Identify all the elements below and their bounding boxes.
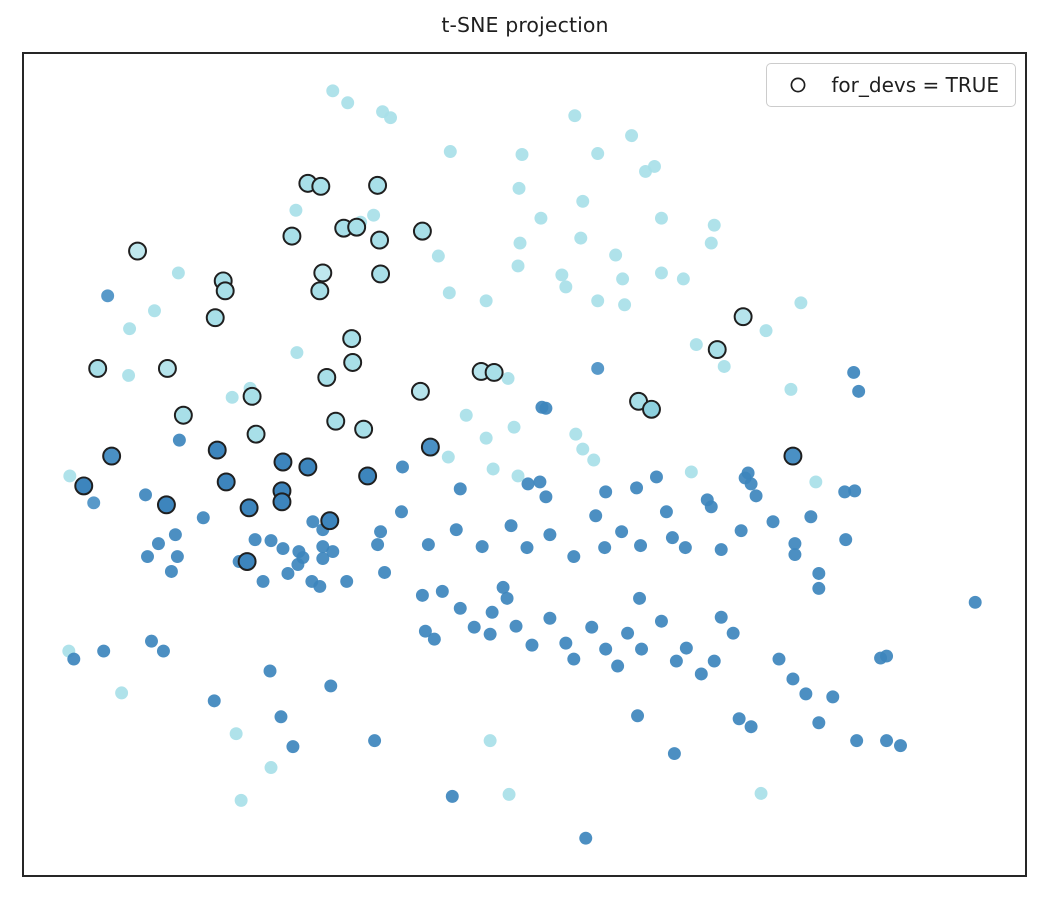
scatter-point: [454, 602, 467, 615]
scatter-point: [773, 653, 786, 666]
scatter-point: [559, 280, 572, 293]
scatter-point: [327, 413, 344, 430]
scatter-point: [340, 575, 353, 588]
scatter-point: [655, 266, 668, 279]
scatter-point: [650, 470, 663, 483]
scatter-point: [165, 565, 178, 578]
scatter-point: [633, 592, 646, 605]
scatter-point: [767, 515, 780, 528]
scatter-point: [123, 322, 136, 335]
scatter-point: [208, 694, 221, 707]
scatter-point: [569, 428, 582, 441]
scatter-point: [416, 589, 429, 602]
scatter-point: [745, 477, 758, 490]
scatter-point: [634, 539, 647, 552]
scatter-point: [755, 787, 768, 800]
scatter-point: [643, 401, 660, 418]
scatter-point: [395, 505, 408, 518]
scatter-point: [226, 391, 239, 404]
scatter-point: [525, 639, 538, 652]
scatter-point: [87, 496, 100, 509]
scatter-point: [274, 493, 291, 510]
scatter-point: [197, 511, 210, 524]
scatter-point: [591, 294, 604, 307]
scatter-point: [543, 528, 556, 541]
scatter-point: [484, 628, 497, 641]
scatter-point: [396, 461, 409, 474]
scatter-point: [826, 690, 839, 703]
scatter-point: [695, 668, 708, 681]
scatter-point: [274, 454, 291, 471]
scatter-point: [173, 434, 186, 447]
legend[interactable]: for_devs = TRUE: [766, 63, 1016, 107]
scatter-point: [257, 575, 270, 588]
scatter-point: [369, 177, 386, 194]
scatter-point: [543, 612, 556, 625]
scatter-point: [326, 545, 339, 558]
scatter-point: [122, 369, 135, 382]
scatter-point: [450, 523, 463, 536]
scatter-point: [378, 566, 391, 579]
scatter-point: [476, 540, 489, 553]
scatter-point: [503, 788, 516, 801]
scatter-point: [615, 525, 628, 538]
scatter-point: [576, 443, 589, 456]
scatter-point: [850, 734, 863, 747]
scatter-point: [436, 585, 449, 598]
scatter-point: [733, 712, 746, 725]
scatter-point: [265, 761, 278, 774]
scatter-point: [894, 739, 907, 752]
scatter-point: [502, 372, 515, 385]
scatter-point: [718, 360, 731, 373]
scatter-point: [599, 643, 612, 656]
scatter-point: [89, 360, 106, 377]
scatter-point: [574, 232, 587, 245]
scatter-point: [735, 524, 748, 537]
scatter-point: [616, 272, 629, 285]
scatter-point: [735, 308, 752, 325]
scatter-point: [533, 475, 546, 488]
scatter-point: [514, 237, 527, 250]
scatter-point: [311, 282, 328, 299]
scatter-point: [371, 232, 388, 249]
scatter-point: [318, 369, 335, 386]
scatter-point: [848, 484, 861, 497]
scatter-point: [585, 621, 598, 634]
scatter-point: [609, 249, 622, 262]
scatter-point: [283, 228, 300, 245]
page-title: t-SNE projection: [0, 13, 1050, 37]
scatter-point: [355, 421, 372, 438]
scatter-point: [655, 615, 668, 628]
scatter-point: [750, 489, 763, 502]
scatter-point: [432, 250, 445, 263]
scatter-point: [454, 482, 467, 495]
scatter-point: [101, 289, 114, 302]
scatter-point: [442, 451, 455, 464]
scatter-point: [611, 660, 624, 673]
scatter-point: [852, 385, 865, 398]
scatter-point: [794, 296, 807, 309]
scatter-point: [788, 548, 801, 561]
scatter-point: [715, 543, 728, 556]
scatter-point: [159, 360, 176, 377]
scatter-point: [591, 362, 604, 375]
legend-label: for_devs = TRUE: [831, 73, 999, 97]
scatter-point: [274, 710, 287, 723]
scatter-point: [655, 212, 668, 225]
scatter-point: [677, 272, 690, 285]
scatter-point: [290, 346, 303, 359]
scatter-point: [512, 259, 525, 272]
scatter-point: [516, 148, 529, 161]
scatter-point: [591, 147, 604, 160]
scatter-point: [171, 550, 184, 563]
scatter-point: [784, 383, 797, 396]
scatter-point: [618, 298, 631, 311]
scatter-point: [625, 129, 638, 142]
scatter-point: [265, 534, 278, 547]
scatter-point: [630, 481, 643, 494]
scatter-point: [708, 219, 721, 232]
scatter-point: [599, 485, 612, 498]
scatter-point: [705, 237, 718, 250]
scatter-point: [727, 627, 740, 640]
scatter-point: [690, 338, 703, 351]
scatter-point: [812, 716, 825, 729]
scatter-point: [145, 635, 158, 648]
scatter-point: [289, 204, 302, 217]
scatter-point: [809, 475, 822, 488]
scatter-point: [103, 448, 120, 465]
scatter-point: [880, 650, 893, 663]
scatter-point: [555, 268, 568, 281]
scatter-point: [460, 409, 473, 422]
scatter-point: [217, 282, 234, 299]
scatter-point: [296, 551, 309, 564]
scatter-point: [631, 709, 644, 722]
scatter-point: [522, 477, 535, 490]
scatter-point: [249, 533, 262, 546]
scatter-point: [299, 459, 316, 476]
scatter-point: [276, 542, 289, 555]
scatter-point: [839, 533, 852, 546]
scatter-point: [129, 243, 146, 260]
scatter-point: [742, 466, 755, 479]
scatter-point: [680, 642, 693, 655]
scatter-point: [539, 490, 552, 503]
scatter-point: [371, 538, 384, 551]
scatter-series: [62, 84, 981, 844]
scatter-point: [343, 330, 360, 347]
scatter-point: [685, 465, 698, 478]
scatter-point: [468, 621, 481, 634]
scatter-point: [207, 309, 224, 326]
plot-area[interactable]: for_devs = TRUE: [22, 52, 1027, 877]
scatter-point: [505, 519, 518, 532]
scatter-point: [705, 500, 718, 513]
scatter-point: [660, 505, 673, 518]
scatter-point: [804, 510, 817, 523]
scatter-point: [141, 550, 154, 563]
scatter-point: [567, 653, 580, 666]
scatter-point: [414, 223, 431, 240]
scatter-point: [341, 96, 354, 109]
scatter-point: [384, 111, 397, 124]
scatter-point: [368, 734, 381, 747]
scatter-point: [172, 266, 185, 279]
scatter-point: [422, 538, 435, 551]
scatter-point: [97, 645, 110, 658]
scatter-point: [708, 655, 721, 668]
scatter-point: [745, 720, 758, 733]
scatter-point: [508, 421, 521, 434]
scatter-point: [446, 790, 459, 803]
scatter-point: [264, 665, 277, 678]
scatter-point: [486, 364, 503, 381]
scatter-point: [513, 182, 526, 195]
scatter-point: [209, 442, 226, 459]
scatter-point: [487, 463, 500, 476]
scatter-point: [670, 655, 683, 668]
scatter-point: [372, 265, 389, 282]
scatter-point: [412, 383, 429, 400]
scatter-point: [480, 294, 493, 307]
scatter-point: [235, 794, 248, 807]
scatter-point: [218, 473, 235, 490]
scatter-point: [344, 354, 361, 371]
scatter-point: [598, 541, 611, 554]
scatter-point: [579, 832, 592, 845]
scatter-point: [559, 637, 572, 650]
scatter-point: [535, 401, 548, 414]
scatter-point: [324, 679, 337, 692]
scatter-point: [313, 580, 326, 593]
scatter-point: [486, 606, 499, 619]
scatter-point: [367, 209, 380, 222]
scatter-point: [668, 747, 681, 760]
scatter-point: [679, 541, 692, 554]
scatter-point: [67, 653, 80, 666]
scatter-point: [799, 687, 812, 700]
scatter-point: [241, 499, 258, 516]
scatter-point: [312, 178, 329, 195]
scatter-point: [443, 286, 456, 299]
scatter-point: [648, 160, 661, 173]
scatter-point: [428, 633, 441, 646]
scatter-point: [148, 304, 161, 317]
scatter-point: [444, 145, 457, 158]
scatter-point: [760, 324, 773, 337]
scatter-point: [239, 553, 256, 570]
scatter-point: [484, 734, 497, 747]
scatter-point: [374, 525, 387, 538]
scatter-point: [568, 109, 581, 122]
scatter-point: [880, 734, 893, 747]
scatter-point: [244, 388, 261, 405]
scatter-point: [139, 488, 152, 501]
scatter-point: [587, 454, 600, 467]
scatter-point: [715, 611, 728, 624]
scatter-point: [969, 596, 982, 609]
scatter-point: [786, 672, 799, 685]
legend-circle-open-icon: [781, 76, 815, 94]
scatter-point: [480, 432, 493, 445]
scatter-point: [521, 541, 534, 554]
scatter-point: [812, 582, 825, 595]
scatter-point: [314, 264, 331, 281]
scatter-point: [784, 448, 801, 465]
scatter-point: [359, 467, 376, 484]
scatter-point: [230, 727, 243, 740]
scatter-point: [152, 537, 165, 550]
scatter-point: [567, 550, 580, 563]
scatter-point: [510, 620, 523, 633]
scatter-point: [635, 643, 648, 656]
scatter-point: [589, 509, 602, 522]
scatter-point: [534, 212, 547, 225]
scatter-point: [576, 195, 589, 208]
scatter-point: [348, 219, 365, 236]
scatter-point: [847, 366, 860, 379]
scatter-point: [175, 407, 192, 424]
scatter-point: [709, 341, 726, 358]
scatter-point: [158, 496, 175, 513]
scatter-point: [281, 567, 294, 580]
tsne-figure: t-SNE projection for_devs = TRUE: [0, 0, 1050, 900]
scatter-point: [422, 439, 439, 456]
scatter-point: [812, 567, 825, 580]
scatter-point: [326, 84, 339, 97]
scatter-point: [621, 627, 634, 640]
scatter-point: [63, 469, 76, 482]
scatter-point: [157, 645, 170, 658]
scatter-point: [321, 512, 338, 529]
scatter-point: [501, 592, 514, 605]
scatter-point: [169, 528, 182, 541]
scatter-point: [248, 426, 265, 443]
scatter-point: [666, 531, 679, 544]
scatter-point: [286, 740, 299, 753]
scatter-plot[interactable]: [24, 54, 1025, 875]
scatter-point: [75, 477, 92, 494]
scatter-point: [115, 686, 128, 699]
scatter-series: [75, 175, 801, 570]
